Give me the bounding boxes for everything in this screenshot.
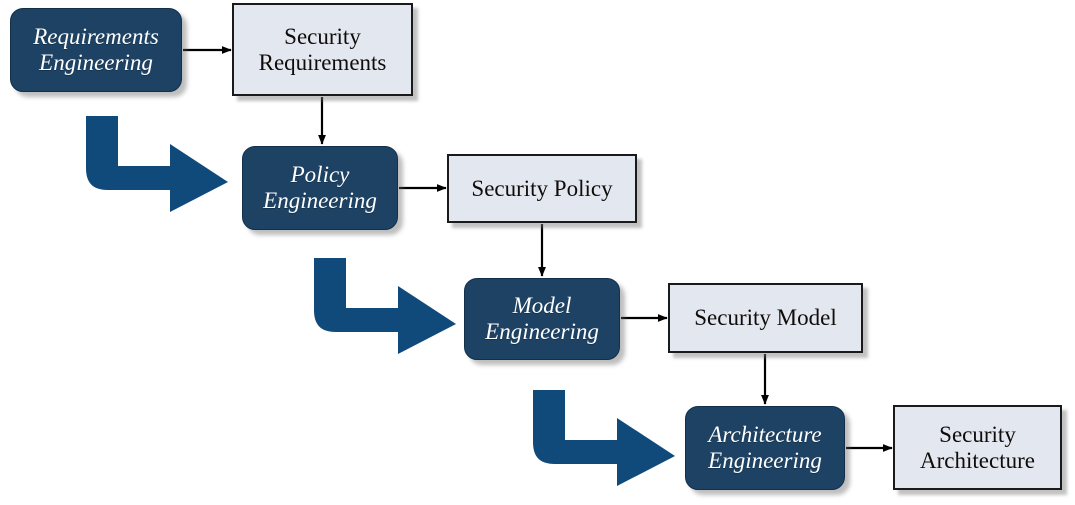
node-security-requirements-label: SecurityRequirements: [234, 24, 411, 76]
node-requirements-engineering-label: RequirementsEngineering: [11, 24, 181, 76]
node-security-model[interactable]: Security Model: [668, 283, 863, 353]
node-security-requirements[interactable]: SecurityRequirements: [232, 3, 413, 96]
node-architecture-engineering[interactable]: ArchitectureEngineering: [685, 406, 845, 490]
node-security-model-label: Security Model: [670, 305, 861, 331]
flow-arrow-1-curved-arrow-icon: [78, 114, 230, 214]
flow-arrow-2-curved-arrow-icon: [306, 256, 458, 356]
node-policy-engineering[interactable]: PolicyEngineering: [242, 146, 398, 230]
node-security-architecture-label: SecurityArchitecture: [895, 422, 1060, 474]
node-policy-engineering-label: PolicyEngineering: [243, 162, 397, 214]
node-requirements-engineering[interactable]: RequirementsEngineering: [10, 8, 182, 92]
node-architecture-engineering-label: ArchitectureEngineering: [686, 422, 844, 474]
node-security-architecture[interactable]: SecurityArchitecture: [893, 405, 1062, 490]
node-model-engineering[interactable]: ModelEngineering: [464, 278, 620, 360]
security-engineering-diagram: RequirementsEngineering SecurityRequirem…: [0, 0, 1075, 505]
flow-arrow-3-curved-arrow-icon: [525, 388, 677, 488]
node-security-policy-label: Security Policy: [449, 176, 635, 202]
node-model-engineering-label: ModelEngineering: [465, 293, 619, 345]
node-security-policy[interactable]: Security Policy: [447, 154, 637, 223]
